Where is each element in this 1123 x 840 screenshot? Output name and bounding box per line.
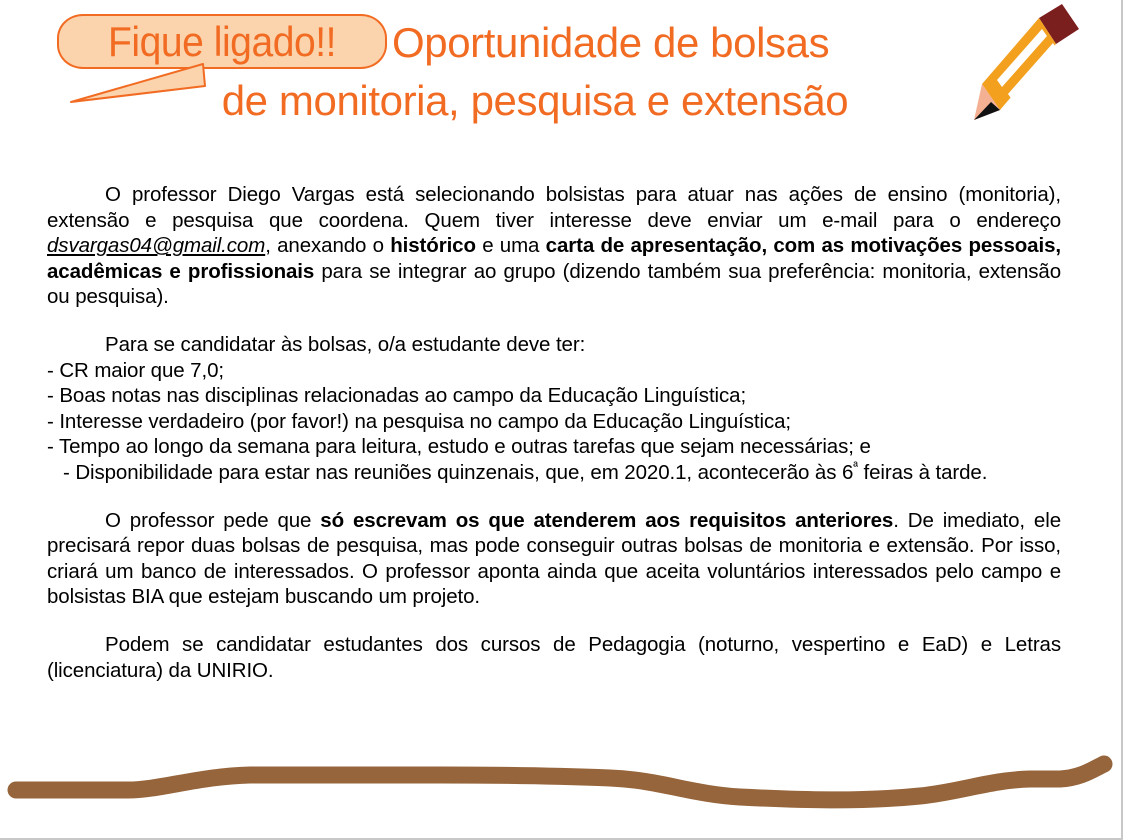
requirement-item-5-text-1: - Disponibilidade para estar nas reuniõe… [63, 461, 853, 484]
paragraph-spacer-1 [47, 310, 1061, 332]
paragraph-intro-text-3: e uma [476, 234, 546, 257]
requirements-intro: Para se candidatar às bolsas, o/a estuda… [47, 332, 1061, 358]
slide-canvas: Fique ligado!! Oportunidade de bolsas de… [0, 0, 1123, 840]
paragraph-intro-text-2: , anexando o [265, 234, 390, 257]
requirement-item-2: - Boas notas nas disciplinas relacionada… [47, 383, 1061, 409]
decorative-squiggle-line [0, 752, 1123, 822]
paragraph-notice-text-1: O professor pede que [105, 509, 320, 532]
requirement-item-3: - Interesse verdadeiro (por favor!) na p… [47, 409, 1061, 435]
paragraph-spacer-2 [47, 486, 1061, 508]
speech-bubble-label: Fique ligado!! [69, 14, 376, 69]
requirement-item-5-text-2: feiras à tarde. [858, 461, 987, 484]
paragraph-spacer-3 [47, 610, 1061, 632]
requirement-item-4: - Tempo ao longo da semana para leitura,… [47, 434, 1061, 460]
paragraph-intro: O professor Diego Vargas está selecionan… [47, 182, 1061, 310]
slide-body: O professor Diego Vargas está selecionan… [47, 182, 1061, 683]
requirements-list: Para se candidatar às bolsas, o/a estuda… [47, 332, 1061, 486]
requirement-item-5: - Disponibilidade para estar nas reuniõe… [47, 460, 1061, 486]
requirement-item-1: - CR maior que 7,0; [47, 358, 1061, 384]
email-link[interactable]: dsvargas04@gmail.com [47, 234, 265, 257]
pencil-icon [962, 2, 1080, 124]
speech-bubble-callout: Fique ligado!! [57, 14, 387, 69]
paragraph-intro-bold-historico: histórico [390, 234, 476, 257]
paragraph-intro-text-1: O professor Diego Vargas está selecionan… [47, 183, 1061, 232]
page-title-line-2: de monitoria, pesquisa e extensão [90, 75, 980, 126]
slide-header: Fique ligado!! Oportunidade de bolsas de… [0, 0, 1123, 140]
paragraph-requirements-notice: O professor pede que só escrevam os que … [47, 508, 1061, 610]
paragraph-eligible-courses: Podem se candidatar estudantes dos curso… [47, 632, 1061, 683]
page-title-line-1: Oportunidade de bolsas [392, 17, 972, 68]
paragraph-notice-bold: só escrevam os que atenderem aos requisi… [320, 509, 893, 532]
